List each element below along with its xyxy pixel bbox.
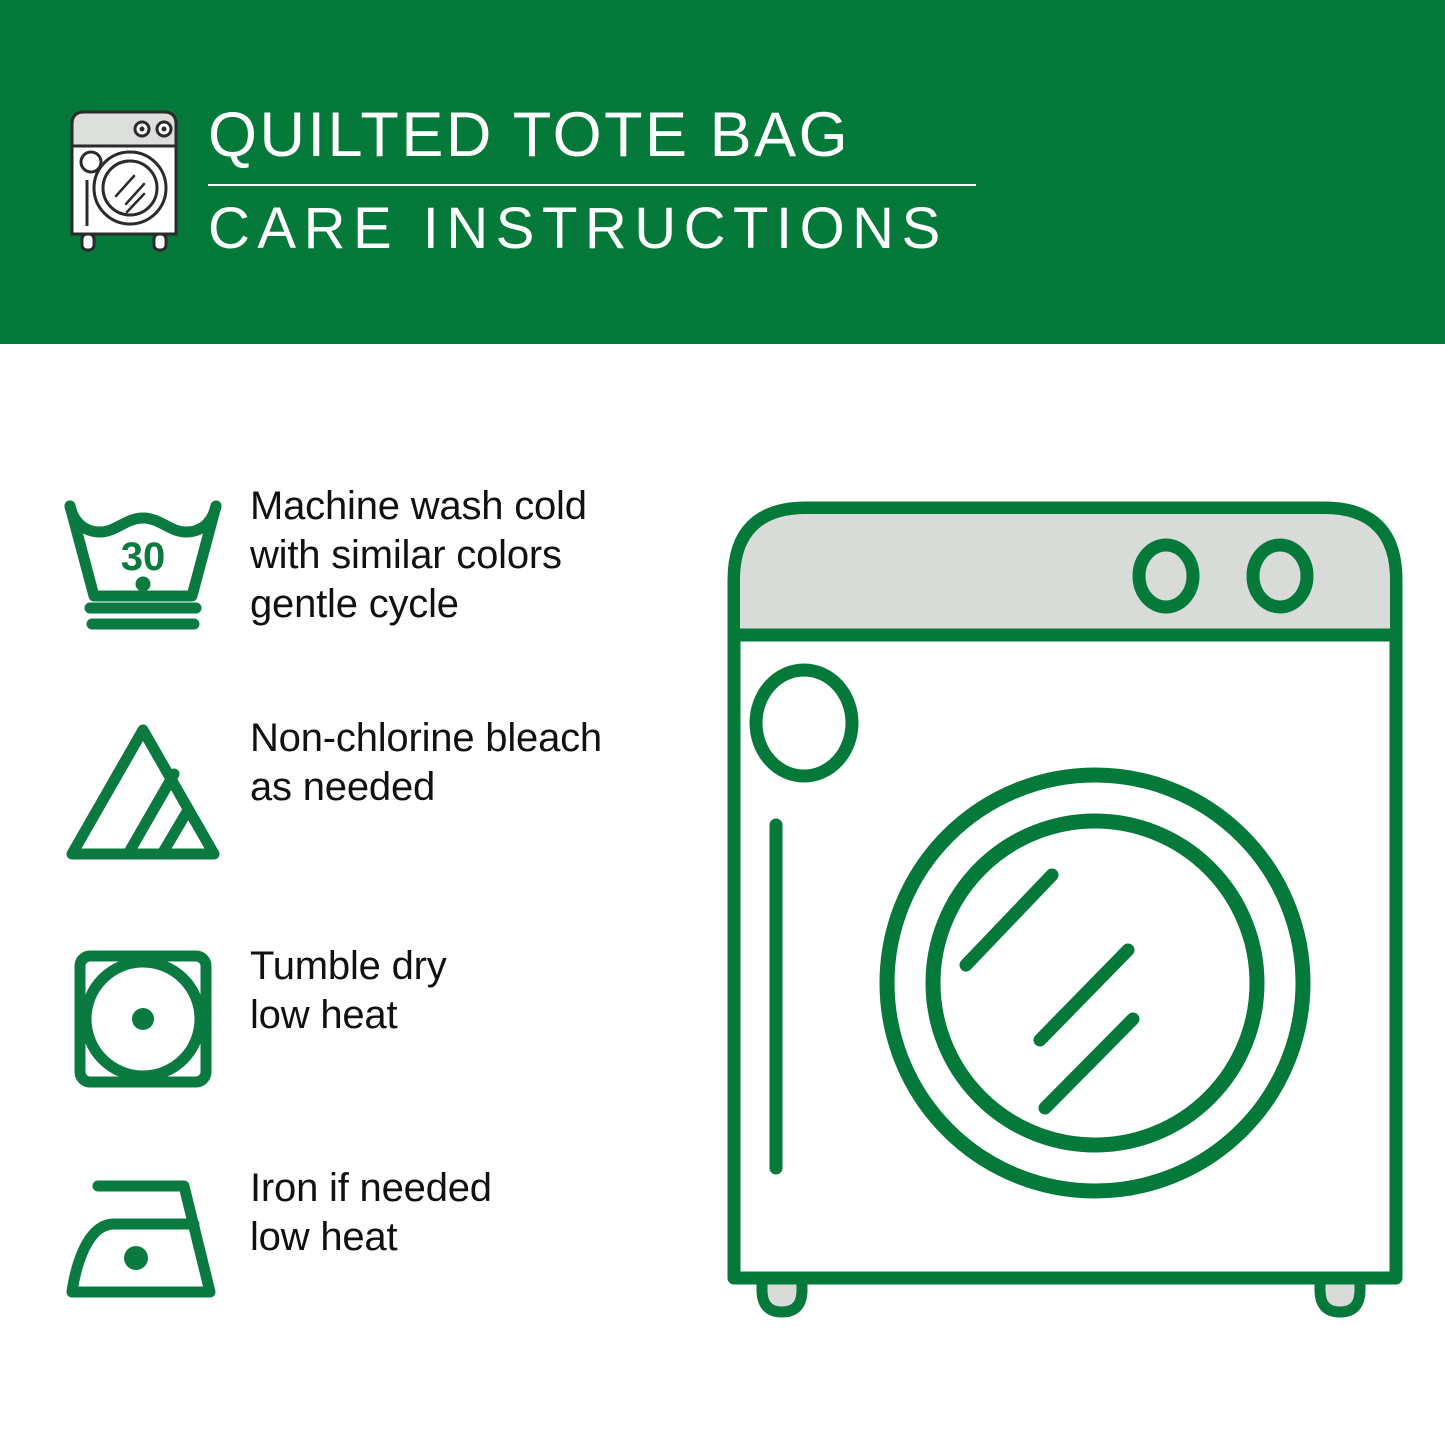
wash-dot: [136, 577, 151, 592]
iron-dot: [124, 1246, 148, 1270]
washer-control-panel: [740, 514, 1390, 635]
care-instructions-page: QUILTED TOTE BAG CARE INSTRUCTIONS 30: [0, 0, 1445, 1445]
header-banner: QUILTED TOTE BAG CARE INSTRUCTIONS: [0, 0, 1445, 344]
tumble-dry-dot: [132, 1008, 154, 1030]
tumble-dry-icon: [58, 934, 228, 1104]
wash-tub-icon: 30: [58, 474, 228, 644]
iron-icon: [58, 1156, 228, 1326]
care-label: Machine wash cold with similar colors ge…: [228, 474, 587, 628]
care-row: Non-chlorine bleach as needed: [0, 706, 700, 876]
care-label: Non-chlorine bleach as needed: [228, 706, 602, 812]
wash-temperature-value: 30: [121, 535, 166, 579]
care-instruction-list: 30 Machine wash cold with similar colors…: [0, 344, 700, 1445]
front-load-washing-machine-illustration: [720, 470, 1410, 1380]
care-label: Iron if needed low heat: [228, 1156, 492, 1262]
page-title: QUILTED TOTE BAG: [208, 104, 988, 167]
washing-machine-icon: [64, 104, 184, 252]
care-row: 30 Machine wash cold with similar colors…: [0, 474, 700, 644]
header-divider: [208, 184, 976, 186]
care-label: Tumble dry low heat: [228, 934, 447, 1040]
care-row: Tumble dry low heat: [0, 934, 700, 1104]
header-text-block: QUILTED TOTE BAG CARE INSTRUCTIONS: [208, 104, 988, 264]
page-subtitle: CARE INSTRUCTIONS: [208, 200, 988, 258]
care-row: Iron if needed low heat: [0, 1156, 700, 1326]
bleach-triangle-icon: [58, 706, 228, 876]
